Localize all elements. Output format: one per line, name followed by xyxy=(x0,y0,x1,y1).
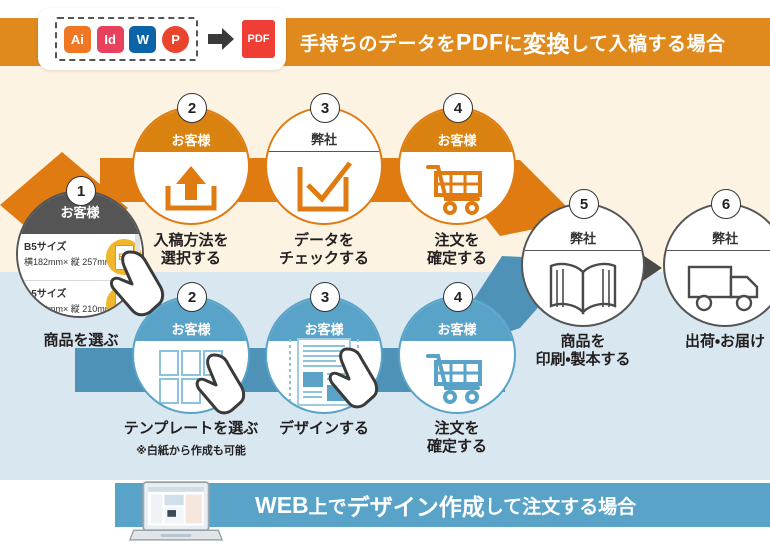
process-flow-diagram: 手持ちのデータをPDFに変換して入稿する場合 Ai Id W P PDF B5サ… xyxy=(0,0,770,550)
step-o3-caption: データを チェックする xyxy=(249,232,399,269)
step-o3-number: 3 xyxy=(310,93,340,123)
bottom-banner-text-design: デザイン作成 xyxy=(347,488,485,522)
top-banner-text-pre: 手持ちのデータを xyxy=(300,29,456,56)
top-banner-text: 手持ちのデータをPDFに変換して入稿する場合 xyxy=(300,18,725,66)
product-row-detail: 横148mm× 縦 210mm xyxy=(24,303,112,316)
step-b4-caption: 注文を 確定する xyxy=(382,420,532,457)
step-b2-number: 2 xyxy=(177,282,207,312)
step-b2-subcaption: ※白紙から作成も可能 xyxy=(86,442,296,458)
pdf-icon: PDF xyxy=(242,20,275,58)
step-o2-circle[interactable]: お客様 xyxy=(132,107,250,225)
step-o4-number: 4 xyxy=(443,93,473,123)
laptop-icon xyxy=(126,478,226,546)
shopping-cart-icon xyxy=(400,152,514,223)
step-6-caption: 出荷・お届け xyxy=(645,333,770,351)
step-b4-number: 4 xyxy=(443,282,473,312)
powerpoint-icon: P xyxy=(162,26,189,53)
top-banner-text-post: して入稿する場合 xyxy=(570,29,725,56)
step-o4-caption: 注文を 確定する xyxy=(382,232,532,269)
hand-pointer-icon xyxy=(108,248,166,318)
file-format-card: Ai Id W P PDF xyxy=(38,8,286,70)
bottom-banner-text-web: WEB xyxy=(255,492,309,519)
hand-pointer-icon xyxy=(327,346,379,410)
top-banner-text-mid: に xyxy=(504,29,524,56)
illustrator-icon: Ai xyxy=(64,26,91,53)
shopping-cart-icon xyxy=(400,341,514,412)
hand-pointer-icon xyxy=(194,352,246,416)
step-o3-circle[interactable]: 弊社 xyxy=(265,107,383,225)
check-box-icon xyxy=(267,152,381,223)
indesign-icon: Id xyxy=(97,26,124,53)
step-o4-circle[interactable]: お客様 xyxy=(398,107,516,225)
open-book-icon xyxy=(523,251,643,325)
product-row-detail: 横182mm× 縦 257mm xyxy=(24,256,112,269)
right-arrow-icon xyxy=(208,28,234,50)
step-5-number: 5 xyxy=(569,189,599,219)
source-file-types: Ai Id W P xyxy=(55,17,198,61)
word-icon: W xyxy=(129,26,156,53)
step-5-caption: 商品を 印刷・製本する xyxy=(508,333,658,370)
product-row-title: B5サイズ xyxy=(24,242,66,253)
step-5-circle[interactable]: 弊社 xyxy=(521,203,645,327)
step-o2-number: 2 xyxy=(177,93,207,123)
bottom-banner-text-post: して注文する場合 xyxy=(485,492,636,519)
step-1-caption: 商品を選ぶ xyxy=(6,332,156,350)
top-banner-text-pdf: PDF xyxy=(456,29,504,56)
step-6-circle[interactable]: 弊社 xyxy=(663,203,770,327)
step-b4-circle[interactable]: お客様 xyxy=(398,296,516,414)
delivery-truck-icon xyxy=(665,251,770,325)
step-1-number: 1 xyxy=(66,176,96,206)
top-banner-text-convert: 変換 xyxy=(523,25,570,59)
bottom-banner-text: WEB上でデザイン作成して注文する場合 xyxy=(255,483,636,527)
bottom-banner-text-pre: 上で xyxy=(309,492,347,519)
upload-icon xyxy=(134,152,248,223)
step-b3-number: 3 xyxy=(310,282,340,312)
product-row-title: A5サイズ xyxy=(24,289,66,300)
step-6-number: 6 xyxy=(711,189,741,219)
